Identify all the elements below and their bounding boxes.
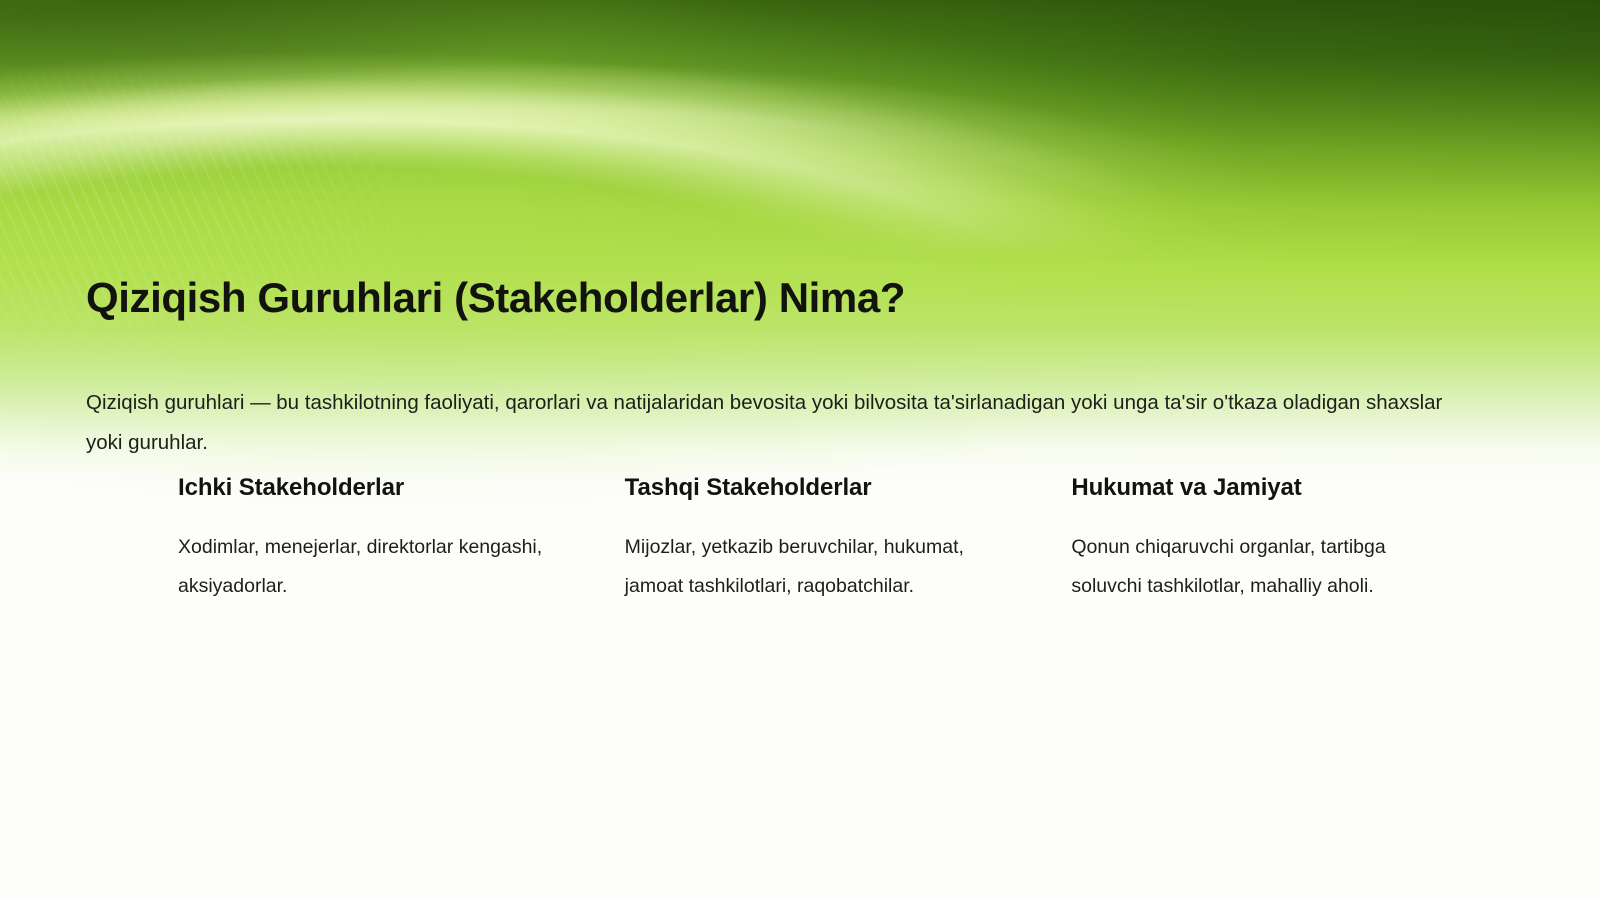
column-heading: Ichki Stakeholderlar	[178, 474, 565, 502]
column-body: Xodimlar, menejerlar, direktorlar kengas…	[178, 528, 565, 606]
slide-content: Qiziqish Guruhlari (Stakeholderlar) Nima…	[0, 0, 1600, 900]
slide-canvas: Qiziqish Guruhlari (Stakeholderlar) Nima…	[0, 0, 1600, 900]
stakeholder-column-external: Tashqi Stakeholderlar Mijozlar, yetkazib…	[625, 474, 1072, 606]
column-body: Qonun chiqaruvchi organlar, tartibga sol…	[1071, 528, 1458, 606]
column-body: Mijozlar, yetkazib beruvchilar, hukumat,…	[625, 528, 1012, 606]
stakeholder-column-internal: Ichki Stakeholderlar Xodimlar, menejerla…	[178, 474, 625, 606]
column-heading: Tashqi Stakeholderlar	[625, 474, 1012, 502]
intro-paragraph: Qiziqish guruhlari — bu tashkilotning fa…	[86, 383, 1476, 463]
stakeholder-column-government: Hukumat va Jamiyat Qonun chiqaruvchi org…	[1071, 474, 1518, 606]
column-heading: Hukumat va Jamiyat	[1071, 474, 1458, 502]
stakeholder-columns: Ichki Stakeholderlar Xodimlar, menejerla…	[178, 474, 1518, 606]
page-title: Qiziqish Guruhlari (Stakeholderlar) Nima…	[86, 274, 905, 322]
